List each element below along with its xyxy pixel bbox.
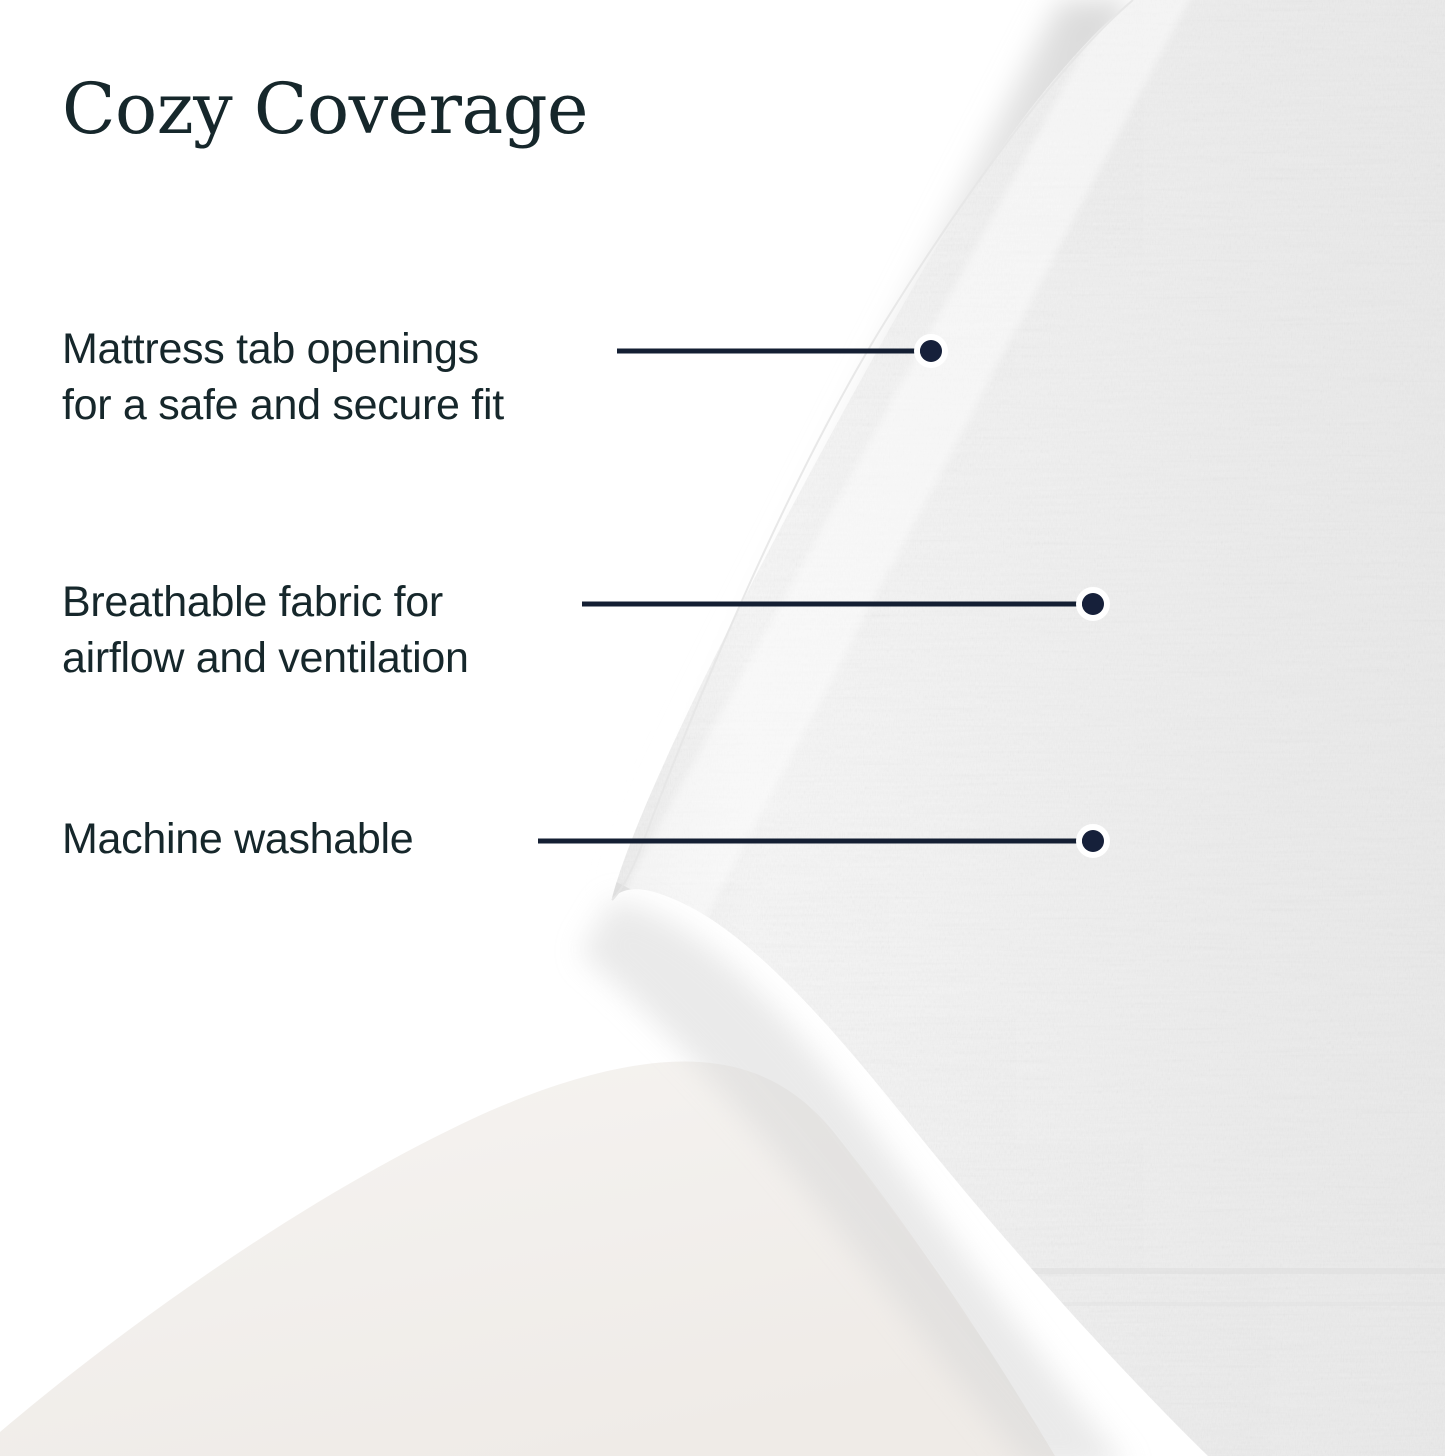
content-layer: Cozy Coverage Mattress tab openings for … xyxy=(0,0,1445,1456)
callout-label-breathable-fabric: Breathable fabric for airflow and ventil… xyxy=(62,575,469,687)
infographic-canvas: Cozy Coverage Mattress tab openings for … xyxy=(0,0,1445,1456)
page-title: Cozy Coverage xyxy=(62,70,588,150)
callout-label-machine-washable: Machine washable xyxy=(62,812,413,868)
callout-label-mattress-tab-openings: Mattress tab openings for a safe and sec… xyxy=(62,322,504,434)
